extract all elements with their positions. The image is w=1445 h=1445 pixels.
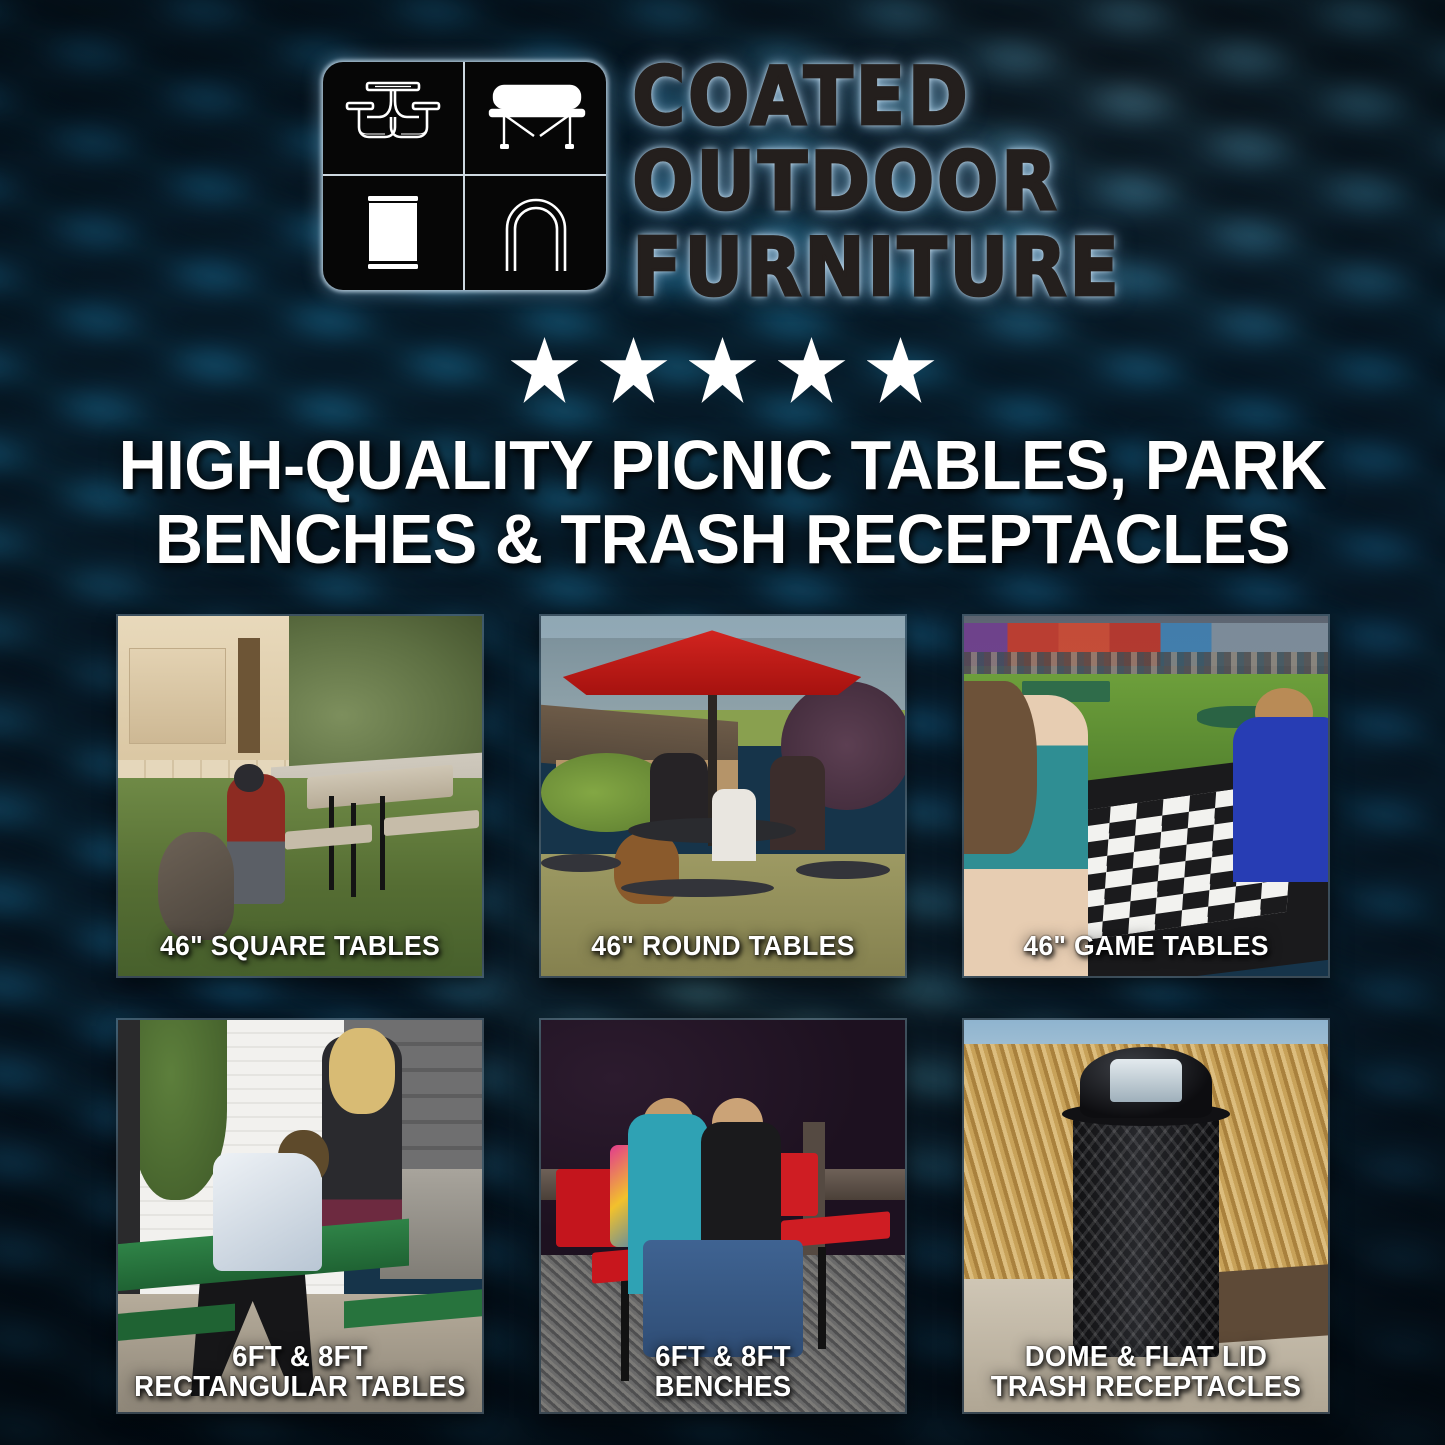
five-star-rating: [0, 337, 1445, 403]
product-tile-benches[interactable]: 6FT & 8FT BENCHES: [541, 1020, 905, 1412]
star-icon: [778, 337, 846, 403]
headline-line-1: HIGH-QUALITY PICNIC TABLES, PARK: [91, 428, 1354, 502]
caption-line: RECTANGULAR TABLES: [133, 1372, 467, 1402]
product-photo-square-tables: [118, 616, 482, 976]
caption-line: TRASH RECEPTACLES: [979, 1372, 1313, 1402]
caption-line: 6FT & 8FT: [556, 1342, 890, 1372]
caption-line: 46" ROUND TABLES: [556, 931, 890, 960]
headline: HIGH-QUALITY PICNIC TABLES, PARK BENCHES…: [91, 428, 1354, 576]
trash-receptacle-icon: [323, 176, 465, 290]
picnic-table-icon: [323, 62, 465, 176]
product-tile-round-tables[interactable]: 46" ROUND TABLES: [541, 616, 905, 976]
product-caption-trash-receptacles: DOME & FLAT LID TRASH RECEPTACLES: [979, 1342, 1313, 1402]
product-caption-square-tables: 46" SQUARE TABLES: [133, 931, 467, 960]
caption-line: BENCHES: [556, 1372, 890, 1402]
star-icon: [600, 337, 668, 403]
star-icon: [867, 337, 935, 403]
bench-icon: [465, 62, 607, 176]
caption-line: 6FT & 8FT: [133, 1342, 467, 1372]
product-caption-round-tables: 46" ROUND TABLES: [556, 931, 890, 960]
caption-line: 46" GAME TABLES: [979, 931, 1313, 960]
product-photo-round-tables: [541, 616, 905, 976]
wordmark-line-2: OUTDOOR: [632, 143, 1059, 220]
product-tile-rectangular-tables[interactable]: 6FT & 8FT RECTANGULAR TABLES: [118, 1020, 482, 1412]
product-photo-game-tables: [964, 616, 1328, 976]
caption-line: DOME & FLAT LID: [979, 1342, 1313, 1372]
wordmark-line-3: FURNITURE: [632, 229, 1121, 306]
caption-line: 46" SQUARE TABLES: [133, 931, 467, 960]
product-caption-rectangular-tables: 6FT & 8FT RECTANGULAR TABLES: [133, 1342, 467, 1402]
product-tile-game-tables[interactable]: 46" GAME TABLES: [964, 616, 1328, 976]
product-caption-game-tables: 46" GAME TABLES: [979, 931, 1313, 960]
star-icon: [511, 337, 579, 403]
headline-line-2: BENCHES & TRASH RECEPTACLES: [91, 502, 1354, 576]
product-caption-benches: 6FT & 8FT BENCHES: [556, 1342, 890, 1402]
logo-icon-grid: [323, 62, 606, 290]
product-tile-square-tables[interactable]: 46" SQUARE TABLES: [118, 616, 482, 976]
promotional-poster: COATED OUTDOOR FURNITURE HIGH-QUALITY PI…: [0, 0, 1445, 1445]
star-icon: [689, 337, 757, 403]
product-tile-trash-receptacles[interactable]: DOME & FLAT LID TRASH RECEPTACLES: [964, 1020, 1328, 1412]
product-grid: 46" SQUARE TABLES: [118, 616, 1328, 1412]
brand-wordmark: COATED OUTDOOR FURNITURE: [632, 58, 1121, 297]
bike-rack-icon: [465, 176, 607, 290]
brand-logo: COATED OUTDOOR FURNITURE: [0, 62, 1445, 298]
wordmark-line-1: COATED: [632, 58, 970, 135]
